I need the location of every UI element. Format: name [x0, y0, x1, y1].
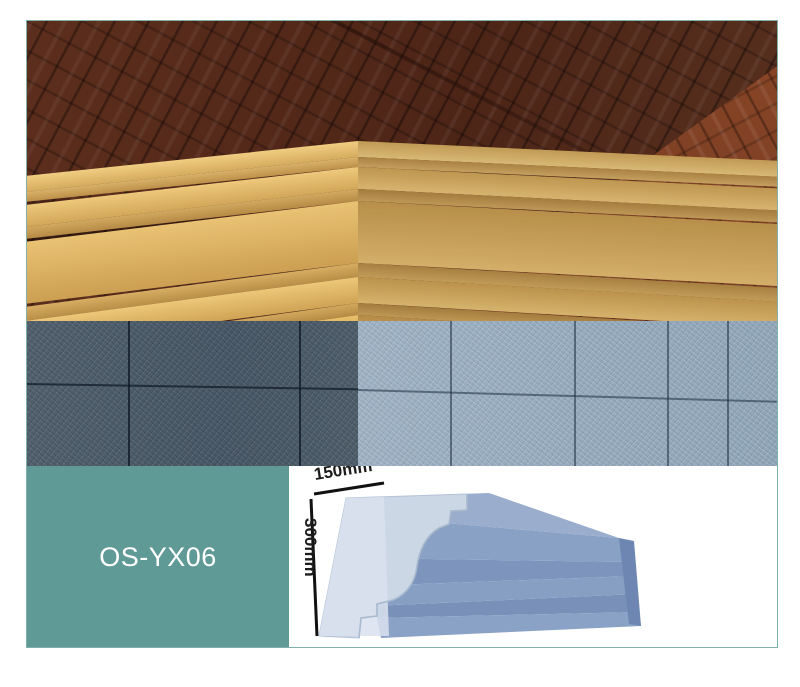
wall-face-left — [27, 321, 358, 466]
cornice-band — [27, 189, 777, 201]
cornice-band — [27, 277, 777, 303]
cornice-band — [27, 167, 777, 189]
profile-diagram: 150mm 300mm — [289, 466, 777, 648]
product-photo — [27, 21, 777, 466]
wall-grout-line-vertical — [574, 321, 576, 466]
wall-face-right — [358, 321, 777, 466]
wall-grout-line-vertical — [727, 321, 729, 466]
cornice-band — [27, 141, 777, 157]
dimension-line-width — [314, 483, 384, 494]
wall-grout-line-vertical — [667, 321, 669, 466]
dimension-label-height: 300mm — [301, 518, 320, 577]
product-image-card: OS-YX06 150mm 300mm — [26, 20, 778, 648]
wall-grout-line-vertical — [299, 321, 301, 466]
product-code-panel: OS-YX06 — [27, 466, 289, 648]
cornice-band — [27, 263, 777, 277]
bottom-strip: OS-YX06 150mm 300mm — [27, 466, 777, 648]
cornice-band — [27, 201, 777, 263]
cornice-band — [27, 303, 777, 315]
product-code-label: OS-YX06 — [99, 542, 217, 573]
tiled-wall — [27, 321, 777, 466]
molding-end-face-highlight — [319, 497, 389, 636]
cornice-band — [27, 157, 777, 167]
dimension-label-width: 150mm — [313, 466, 374, 484]
spec-diagram-panel: 150mm 300mm — [289, 466, 777, 648]
cornice-molding — [27, 141, 777, 351]
wall-grout-line-vertical — [128, 321, 130, 466]
